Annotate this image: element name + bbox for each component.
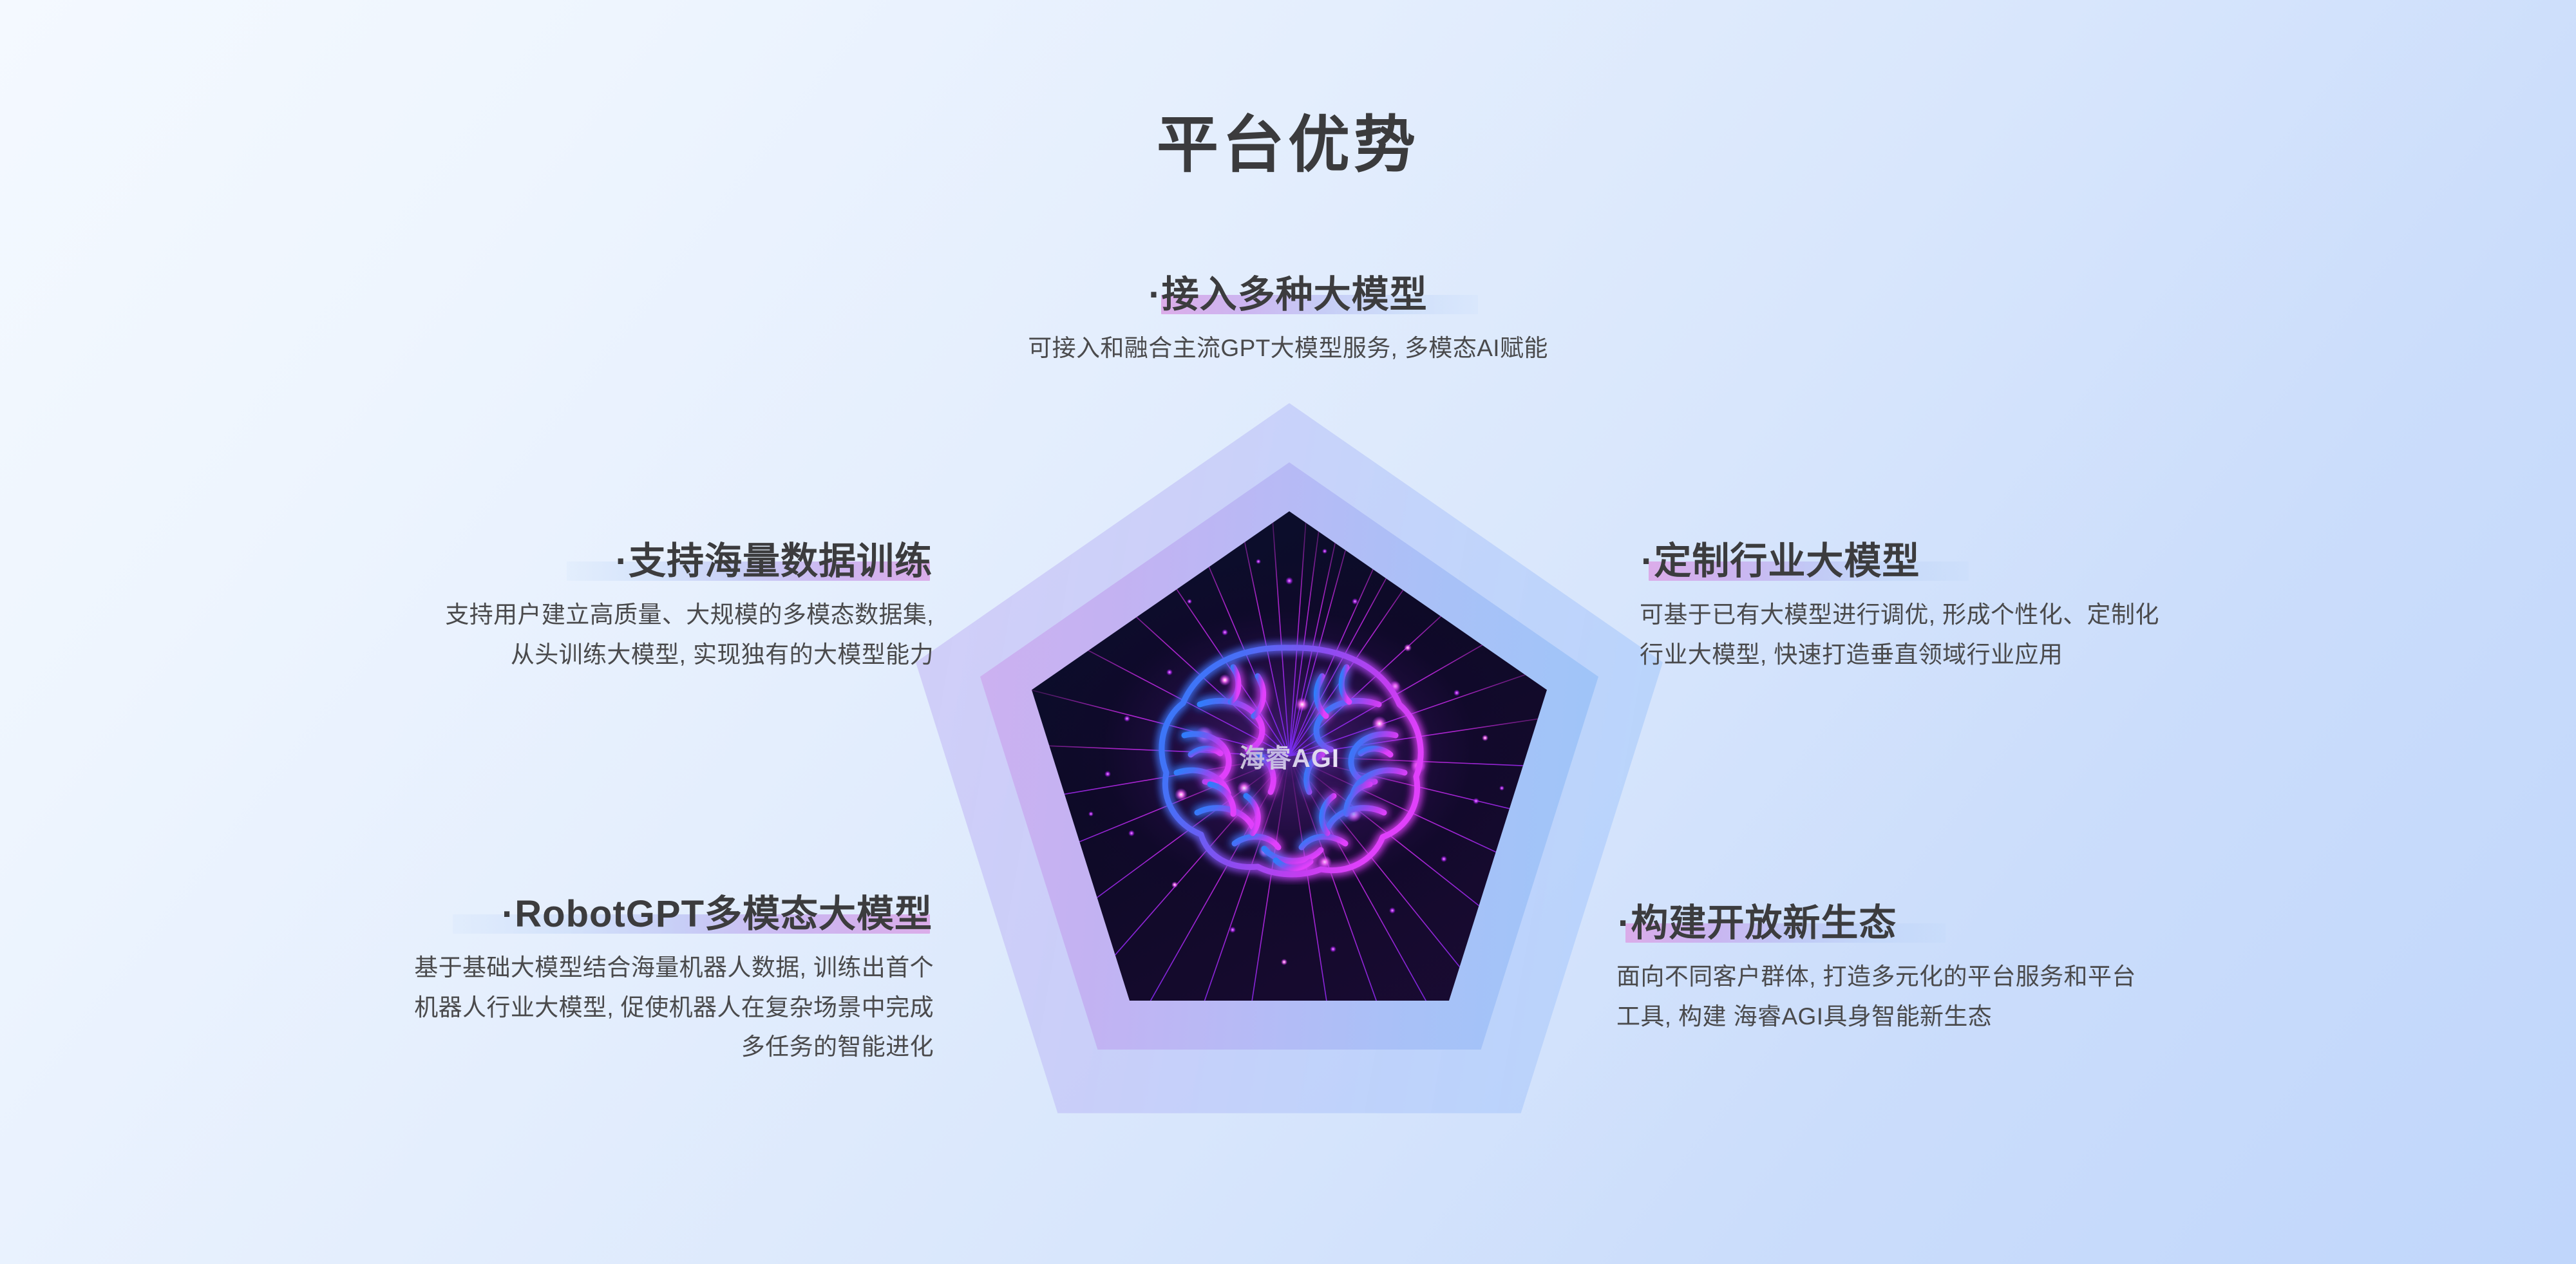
feature-bullet: · bbox=[616, 540, 629, 582]
feature-description: 基于基础大模型结合海量机器人数据, 训练出首个 机器人行业大模型, 促使机器人在… bbox=[97, 948, 934, 1066]
feature-item-right-top[interactable]: ·定制行业大模型 可基于已有大模型进行调优, 形成个性化、定制化 行业大模型, … bbox=[1640, 540, 2490, 674]
feature-bullet: · bbox=[1148, 274, 1161, 316]
feature-item-right-bottom[interactable]: ·构建开放新生态 面向不同客户群体, 打造多元化的平台服务和平台 工具, 构建 … bbox=[1616, 901, 2486, 1036]
feature-description: 可接入和融合主流GPT大模型服务, 多模态AI赋能 bbox=[799, 328, 1777, 368]
center-pentagon-graphic: 海睿AGI bbox=[916, 385, 1663, 1113]
feature-title: ·接入多种大模型 bbox=[1147, 273, 1428, 317]
feature-title-text: 构建开放新生态 bbox=[1631, 902, 1897, 944]
feature-title-text: 支持海量数据训练 bbox=[629, 540, 933, 582]
feature-title: ·定制行业大模型 bbox=[1640, 540, 1921, 583]
feature-title: ·支持海量数据训练 bbox=[614, 540, 934, 583]
feature-item-left-bottom[interactable]: ·RobotGPT多模态大模型 基于基础大模型结合海量机器人数据, 训练出首个 … bbox=[97, 892, 934, 1067]
feature-title: ·RobotGPT多模态大模型 bbox=[500, 892, 934, 936]
feature-title: ·构建开放新生态 bbox=[1616, 901, 1898, 945]
feature-item-top[interactable]: ·接入多种大模型 可接入和融合主流GPT大模型服务, 多模态AI赋能 bbox=[799, 273, 1777, 368]
feature-title-text: RobotGPT多模态大模型 bbox=[515, 893, 933, 935]
feature-title-text: 定制行业大模型 bbox=[1654, 540, 1920, 582]
feature-item-left-top[interactable]: ·支持海量数据训练 支持用户建立高质量、大规模的多模态数据集, 从头训练大模型,… bbox=[116, 540, 934, 674]
feature-description: 可基于已有大模型进行调优, 形成个性化、定制化 行业大模型, 快速打造垂直领域行… bbox=[1640, 595, 2490, 674]
feature-bullet: · bbox=[502, 893, 515, 935]
feature-description: 支持用户建立高质量、大规模的多模态数据集, 从头训练大模型, 实现独有的大模型能… bbox=[116, 595, 934, 674]
feature-bullet: · bbox=[1618, 902, 1631, 944]
page-title: 平台优势 bbox=[0, 115, 2576, 176]
feature-description: 面向不同客户群体, 打造多元化的平台服务和平台 工具, 构建 海睿AGI具身智能… bbox=[1616, 957, 2486, 1036]
feature-title-text: 接入多种大模型 bbox=[1162, 274, 1428, 316]
platform-advantages-infographic: 平台优势 bbox=[0, 0, 2576, 1264]
feature-bullet: · bbox=[1641, 540, 1654, 582]
center-brand-label: 海睿AGI bbox=[1032, 737, 1547, 775]
